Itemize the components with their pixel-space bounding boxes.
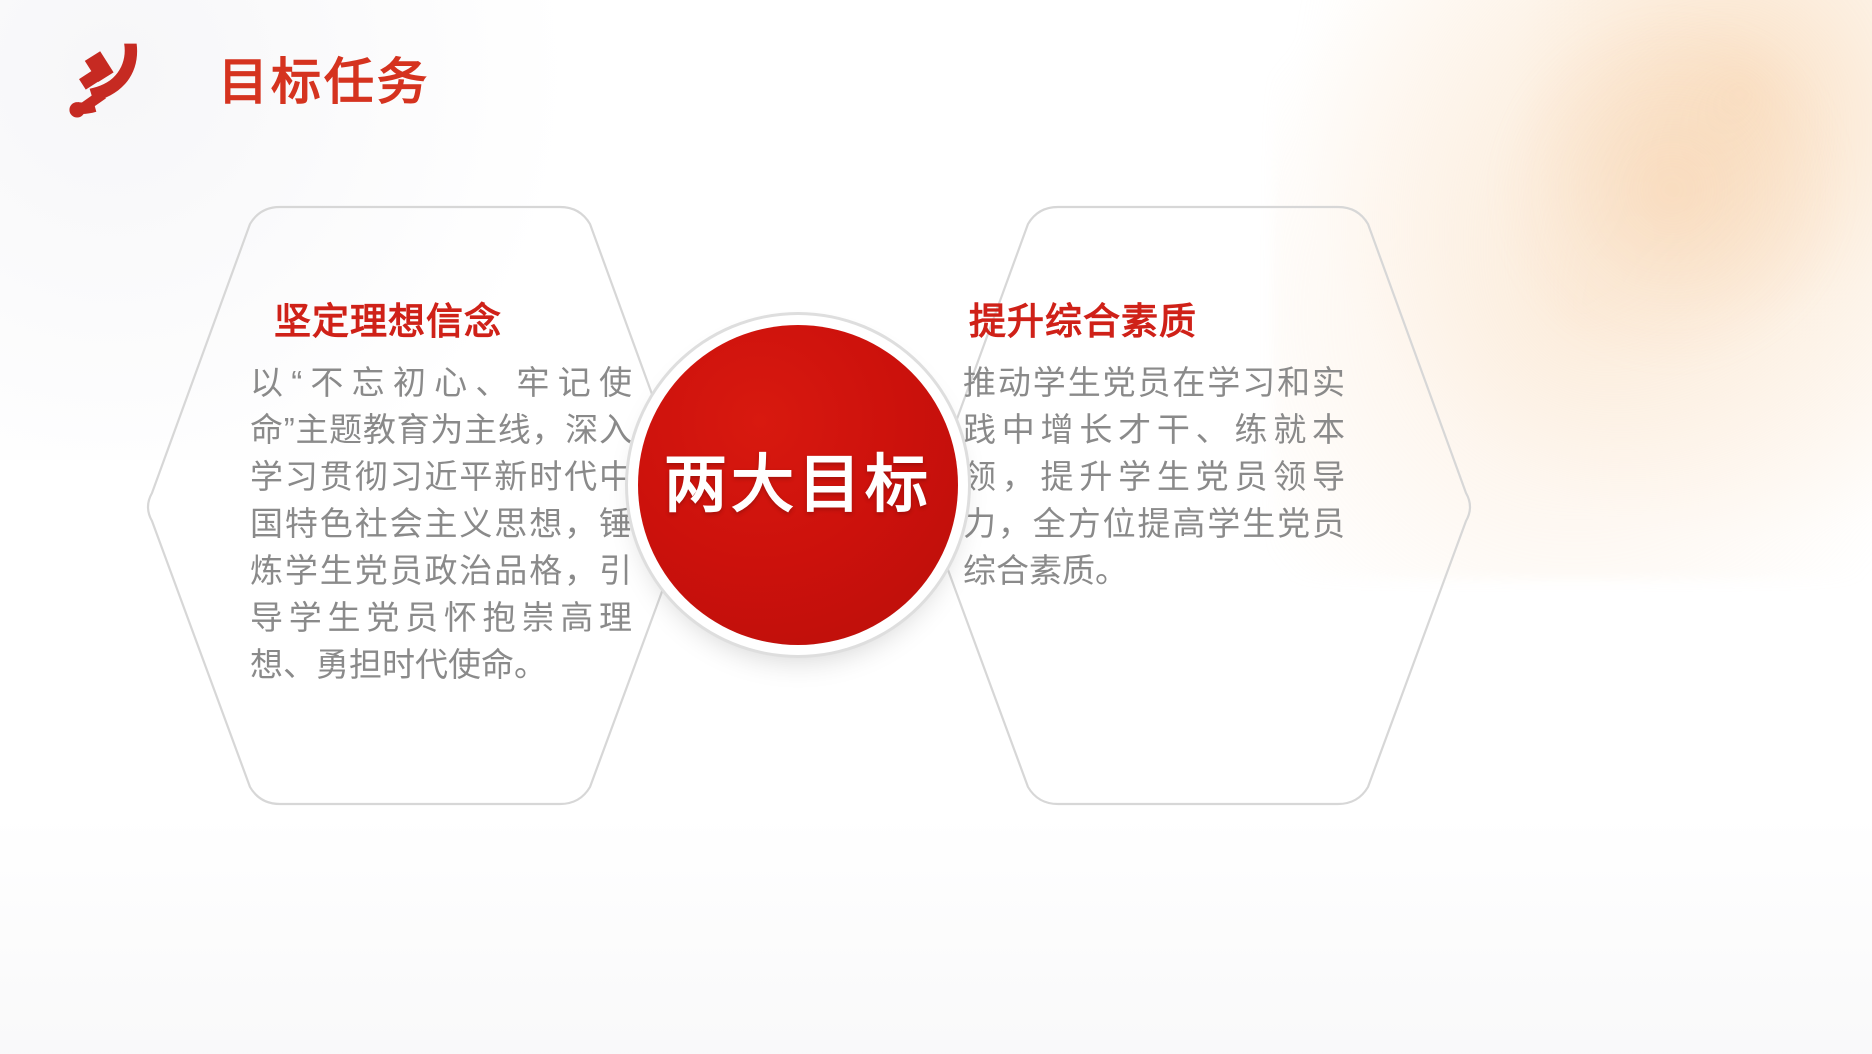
center-circle-label: 两大目标 [664, 454, 932, 517]
panel-right: 提升综合素质 推动学生党员在学习和实践中增长才干、练就本领，提升学生党员领导力，… [963, 300, 1363, 595]
panel-left: 坚定理想信念 以“不忘初心、牢记使命”主题教育为主线，深入学习贯彻习近平新时代中… [250, 300, 650, 688]
center-circle: 两大目标 [638, 325, 958, 645]
panel-left-heading: 坚定理想信念 [250, 300, 650, 344]
panel-right-body: 推动学生党员在学习和实践中增长才干、练就本领，提升学生党员领导力，全方位提高学生… [963, 360, 1345, 594]
diagram-stage: 坚定理想信念 以“不忘初心、牢记使命”主题教育为主线，深入学习贯彻习近平新时代中… [0, 0, 1872, 1054]
panel-left-body: 以“不忘初心、牢记使命”主题教育为主线，深入学习贯彻习近平新时代中国特色社会主义… [250, 360, 632, 688]
panel-right-heading: 提升综合素质 [963, 300, 1363, 344]
